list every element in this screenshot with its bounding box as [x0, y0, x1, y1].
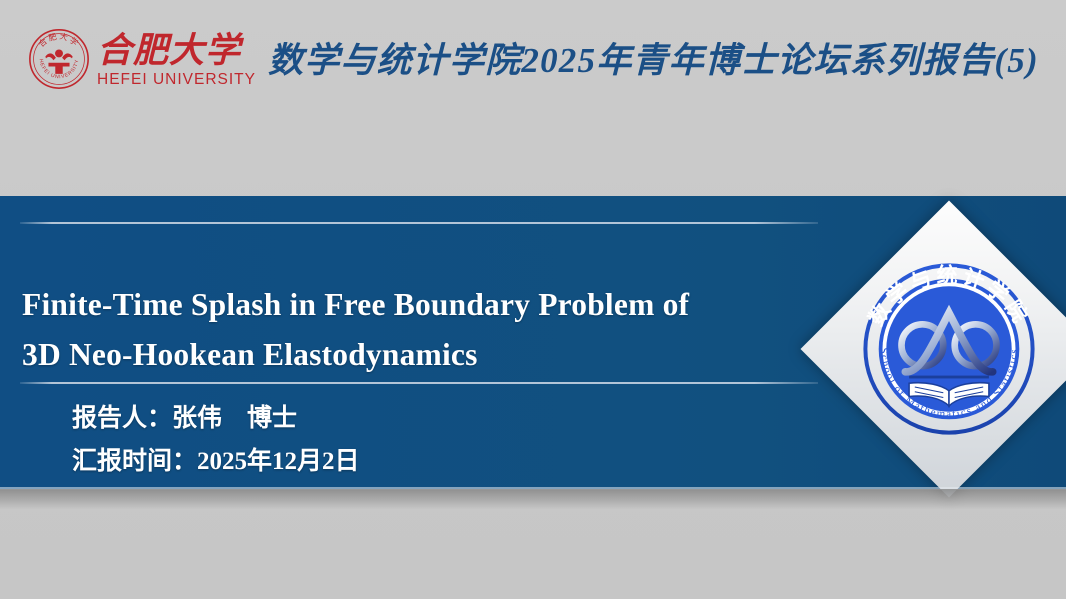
presentation-slide: 合肥大学 HEFEI UNIVERSITY 合肥大学 HEFEI UNIVERS…: [0, 0, 1066, 599]
series-title: 数学与统计学院2025年青年博士论坛系列报告(5): [268, 26, 1058, 88]
divider-top: [20, 222, 818, 224]
time-line: 汇报时间：2025年12月2日: [72, 440, 360, 483]
slide-header: 合肥大学 HEFEI UNIVERSITY 合肥大学 HEFEI UNIVERS…: [0, 0, 1066, 120]
emblem-container: 数学与统计学院 School of Mathematics and Statis…: [800, 200, 1066, 498]
hefei-university-logo: 合肥大学 HEFEI UNIVERSITY 合肥大学 HEFEI UNIVERS…: [28, 17, 250, 101]
university-name-en: HEFEI UNIVERSITY: [97, 71, 256, 89]
university-wordmark: 合肥大学 HEFEI UNIVERSITY: [97, 32, 256, 89]
talk-meta: 报告人：张伟 博士 汇报时间：2025年12月2日: [72, 397, 360, 483]
university-name-cn: 合肥大学: [97, 32, 256, 70]
divider-middle: [20, 382, 818, 384]
panel-shadow-band: [0, 489, 1066, 509]
school-emblem-icon: 数学与统计学院 School of Mathematics and Statis…: [854, 254, 1044, 444]
talk-title-line-1: Finite-Time Splash in Free Boundary Prob…: [22, 280, 792, 330]
speaker-line: 报告人：张伟 博士: [72, 397, 360, 440]
talk-title-line-2: 3D Neo-Hookean Elastodynamics: [22, 330, 792, 380]
hefei-university-seal-icon: 合肥大学 HEFEI UNIVERSITY: [28, 28, 90, 90]
talk-title: Finite-Time Splash in Free Boundary Prob…: [22, 280, 792, 380]
